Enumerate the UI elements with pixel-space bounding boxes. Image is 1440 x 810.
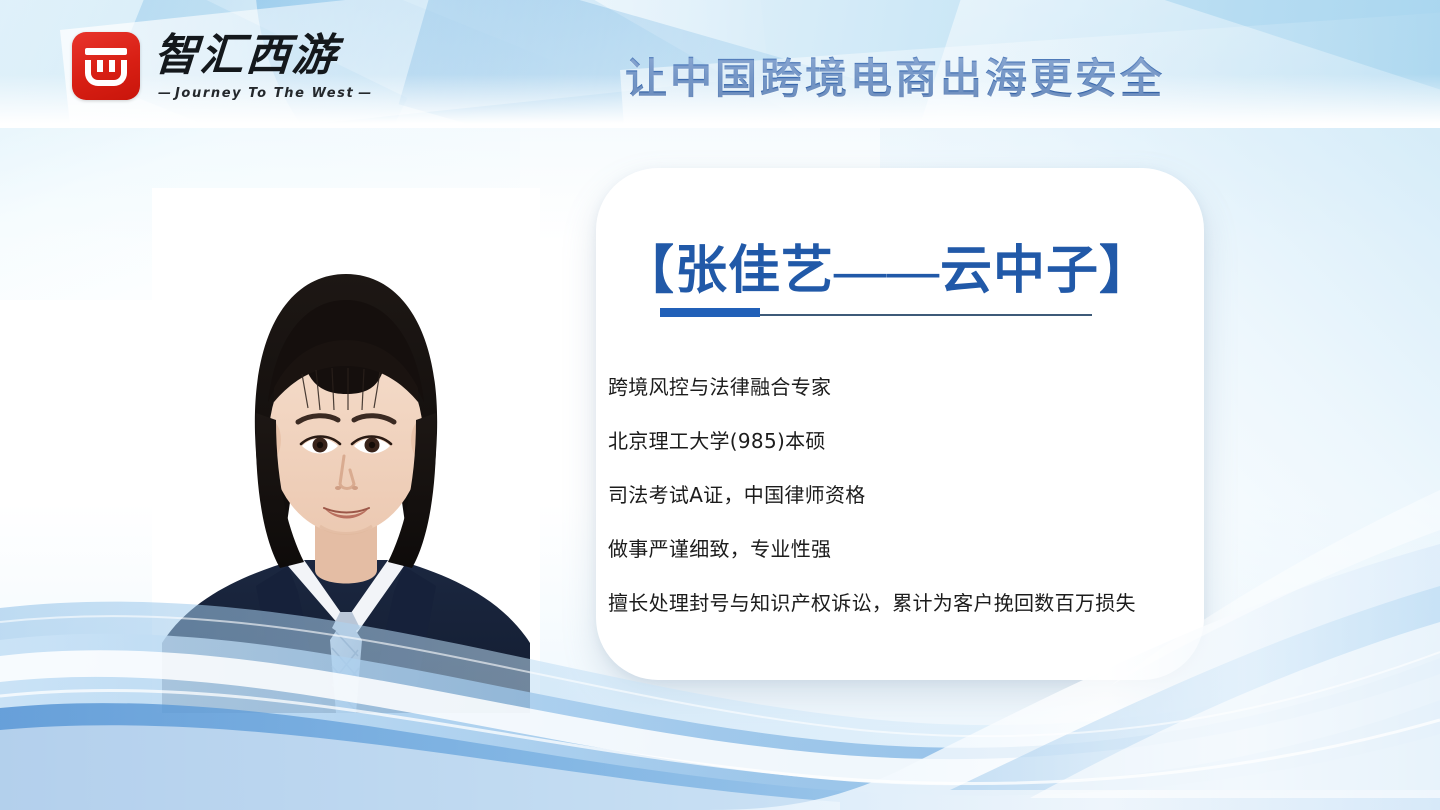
brand-name-en-wrap: —Journey To The West— [154, 86, 375, 101]
profile-bullet-list: 跨境风控与法律融合专家 北京理工大学(985)本硕 司法考试A证，中国律师资格 … [608, 360, 1228, 630]
list-item: 擅长处理封号与知识产权诉讼，累计为客户挽回数百万损失 [608, 576, 1228, 630]
title-underline-rule [660, 308, 1092, 318]
logo-tick-2-shape [109, 60, 115, 72]
list-item: 司法考试A证，中国律师资格 [608, 468, 1228, 522]
header-tagline: 让中国跨境电商出海更安全 [625, 45, 1165, 106]
title-rule-line [760, 314, 1092, 316]
brand-en-dash-left: — [154, 86, 175, 101]
logo-tick-1-shape [97, 60, 103, 72]
brand-wordmark: 智汇西游 —Journey To The West— [154, 32, 375, 101]
list-item: 做事严谨细致，专业性强 [608, 522, 1228, 576]
title-rule-accent [660, 308, 760, 317]
presentation-slide: 智汇西游 —Journey To The West— 让中国跨境电商出海更安全 [0, 0, 1440, 810]
zhihui-xiyou-logo-mark-icon [72, 32, 140, 100]
brand-name-cn: 智汇西游 [152, 34, 376, 78]
brand-en-dash-right: — [354, 86, 375, 101]
list-item: 北京理工大学(985)本硕 [608, 414, 1228, 468]
list-item: 跨境风控与法律融合专家 [608, 360, 1228, 414]
logo-bar-shape [85, 48, 127, 55]
profile-name-title: 【张佳艺——云中子】 [622, 228, 1182, 303]
logo-cup-shape [85, 60, 127, 86]
profile-portrait-photo [152, 188, 540, 713]
brand-logo[interactable]: 智汇西游 —Journey To The West— [72, 32, 375, 101]
brand-name-en: Journey To The West [175, 86, 354, 101]
